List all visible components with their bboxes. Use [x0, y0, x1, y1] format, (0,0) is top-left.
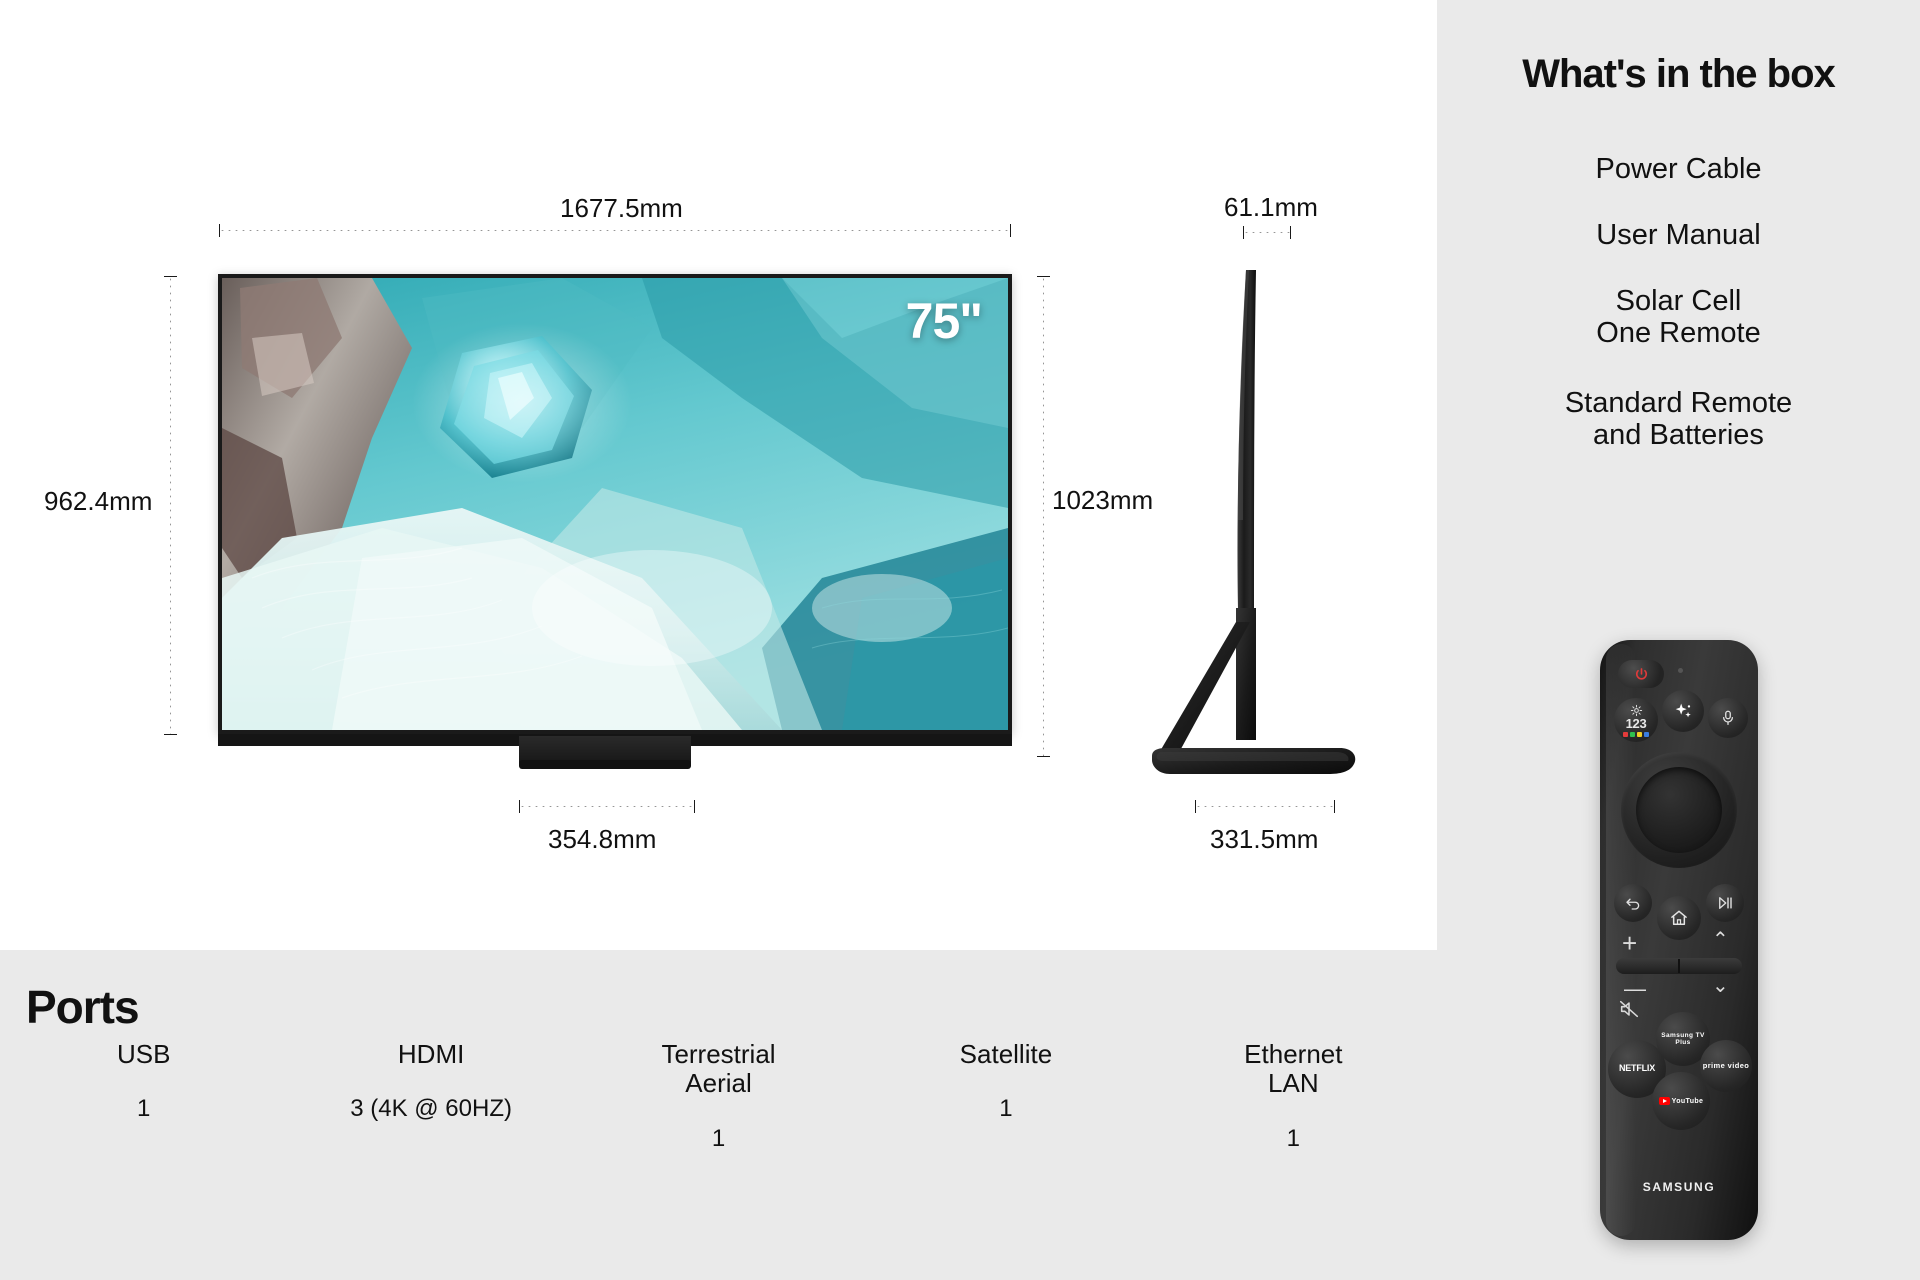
- whats-in-the-box-title: What's in the box: [1437, 52, 1920, 97]
- home-button[interactable]: [1657, 896, 1701, 940]
- box-item-line: User Manual: [1437, 219, 1920, 251]
- port-name-line: Terrestrial: [575, 1040, 862, 1069]
- netflix-label: NETFLIX: [1619, 1064, 1655, 1074]
- dimension-tick-front-height-top: [164, 276, 177, 277]
- dimension-label-stand-depth: 331.5mm: [1210, 824, 1318, 855]
- box-item-line: Standard Remote: [1437, 387, 1920, 419]
- tv-stand-base: [519, 760, 691, 769]
- box-item-user-manual: User Manual: [1437, 219, 1920, 251]
- screen-artwork-ice-cave: [222, 278, 1008, 730]
- back-arrow-icon: [1624, 894, 1642, 912]
- play-pause-icon: [1716, 894, 1734, 912]
- box-item-standard-remote-batteries: Standard Remote and Batteries: [1437, 387, 1920, 452]
- color-buttons-icon: [1623, 732, 1649, 737]
- port-name-line: HDMI: [287, 1040, 574, 1069]
- box-item-line: and Batteries: [1437, 419, 1920, 451]
- channel-up-icon[interactable]: ⌃: [1712, 930, 1729, 950]
- dimension-line-stand-width: [519, 806, 695, 807]
- youtube-play-icon: [1659, 1097, 1670, 1105]
- samsung-brand-logo: SAMSUNG: [1600, 1180, 1758, 1194]
- mute-button[interactable]: [1612, 992, 1646, 1026]
- dimension-label-side-depth: 61.1mm: [1224, 192, 1318, 223]
- prime-line1: prime: [1703, 1061, 1725, 1070]
- dimension-tick-front-height-bottom: [164, 734, 177, 735]
- ports-row: USB 1 HDMI 3 (4K @ 60HZ) Terrestrial Aer…: [0, 1040, 1437, 1153]
- port-value-usb: 1: [0, 1095, 287, 1123]
- remote-control: 123: [1600, 640, 1758, 1240]
- dimension-label-stand-width: 354.8mm: [548, 824, 656, 855]
- youtube-label: YouTube: [1659, 1097, 1704, 1106]
- port-column-satellite: Satellite 1: [862, 1040, 1149, 1153]
- box-item-line: One Remote: [1437, 317, 1920, 349]
- dimension-line-stand-depth: [1195, 806, 1335, 807]
- play-pause-button[interactable]: [1706, 884, 1744, 922]
- port-name-line: LAN: [1150, 1069, 1437, 1098]
- channel-down-icon[interactable]: ⌄: [1712, 976, 1729, 996]
- port-name-satellite: Satellite: [862, 1040, 1149, 1069]
- power-button[interactable]: [1618, 660, 1664, 688]
- back-button[interactable]: [1614, 884, 1652, 922]
- dimension-line-front-height: [170, 276, 171, 734]
- box-item-power-cable: Power Cable: [1437, 153, 1920, 185]
- volume-rocker[interactable]: [1616, 958, 1742, 974]
- mute-icon: [1618, 998, 1640, 1020]
- port-name-line: Satellite: [862, 1040, 1149, 1069]
- dimension-label-total-height: 1023mm: [1052, 485, 1153, 516]
- dimension-tick-side-depth-left: [1243, 226, 1244, 239]
- port-value-ethernet-lan: 1: [1150, 1125, 1437, 1153]
- dimension-label-front-height: 962.4mm: [44, 486, 152, 517]
- numeric-key-label: 123: [1626, 717, 1647, 730]
- port-name-usb: USB: [0, 1040, 287, 1069]
- dimension-tick-stand-depth-left: [1195, 800, 1196, 813]
- port-name-ethernet-lan: Ethernet LAN: [1150, 1040, 1437, 1099]
- ai-assistant-button[interactable]: [1662, 690, 1704, 732]
- microphone-hole-icon: [1678, 668, 1683, 673]
- dimension-tick-side-depth-right: [1290, 226, 1291, 239]
- port-column-hdmi: HDMI 3 (4K @ 60HZ): [287, 1040, 574, 1153]
- box-item-line: Power Cable: [1437, 153, 1920, 185]
- volume-up-icon[interactable]: +: [1622, 930, 1637, 956]
- port-name-line: Aerial: [575, 1069, 862, 1098]
- tv-front-view: 75": [218, 274, 1012, 734]
- port-value-hdmi: 3 (4K @ 60HZ): [287, 1095, 574, 1123]
- voice-mic-button[interactable]: [1708, 698, 1748, 738]
- tv-side-view: [1150, 270, 1370, 780]
- dimension-tick-stand-width-right: [694, 800, 695, 813]
- dimension-line-total-height: [1043, 276, 1044, 756]
- dimension-label-front-width: 1677.5mm: [560, 193, 683, 224]
- numeric-keypad-button[interactable]: 123: [1614, 698, 1658, 742]
- port-value-satellite: 1: [862, 1095, 1149, 1123]
- dimension-tick-stand-width-left: [519, 800, 520, 813]
- port-name-hdmi: HDMI: [287, 1040, 574, 1069]
- home-icon: [1669, 908, 1689, 928]
- ports-title: Ports: [26, 980, 139, 1034]
- dimension-tick-front-width-right: [1010, 224, 1011, 237]
- port-name-line: USB: [0, 1040, 287, 1069]
- samsung-tv-plus-label: Samsung TV Plus: [1656, 1032, 1710, 1046]
- port-value-terrestrial-aerial: 1: [575, 1125, 862, 1153]
- port-column-terrestrial-aerial: Terrestrial Aerial 1: [575, 1040, 862, 1153]
- dpad-select-button[interactable]: [1636, 767, 1722, 853]
- dimension-tick-total-height-bottom: [1037, 756, 1050, 757]
- port-column-ethernet-lan: Ethernet LAN 1: [1150, 1040, 1437, 1153]
- microphone-icon: [1719, 709, 1737, 727]
- prime-line2: video: [1728, 1061, 1750, 1070]
- tv-screen-image: 75": [222, 278, 1008, 730]
- sparkle-icon: [1672, 700, 1694, 722]
- dimension-tick-total-height-top: [1037, 276, 1050, 277]
- dimension-line-side-depth: [1243, 232, 1291, 233]
- box-item-line: Solar Cell: [1437, 285, 1920, 317]
- tv-size-badge: 75": [906, 292, 982, 350]
- samsung-tv-plus-line1: Samsung: [1661, 1032, 1693, 1039]
- youtube-text: YouTube: [1672, 1098, 1704, 1105]
- tv-side-profile: [1150, 270, 1370, 780]
- box-item-solar-cell-remote: Solar Cell One Remote: [1437, 285, 1920, 350]
- dimension-line-front-width: [219, 230, 1011, 231]
- prime-video-label: prime video: [1703, 1062, 1750, 1070]
- gear-icon: [1630, 704, 1643, 717]
- port-name-line: Ethernet: [1150, 1040, 1437, 1069]
- dimension-tick-front-width-left: [219, 224, 220, 237]
- youtube-app-button[interactable]: YouTube: [1652, 1072, 1710, 1130]
- dimensions-panel: 1677.5mm 962.4mm 1023mm 354.8mm 61.1mm 3…: [0, 0, 1437, 950]
- port-name-terrestrial-aerial: Terrestrial Aerial: [575, 1040, 862, 1099]
- power-icon: [1634, 667, 1649, 682]
- prime-video-app-button[interactable]: prime video: [1700, 1040, 1752, 1092]
- port-column-usb: USB 1: [0, 1040, 287, 1153]
- dimension-tick-stand-depth-right: [1334, 800, 1335, 813]
